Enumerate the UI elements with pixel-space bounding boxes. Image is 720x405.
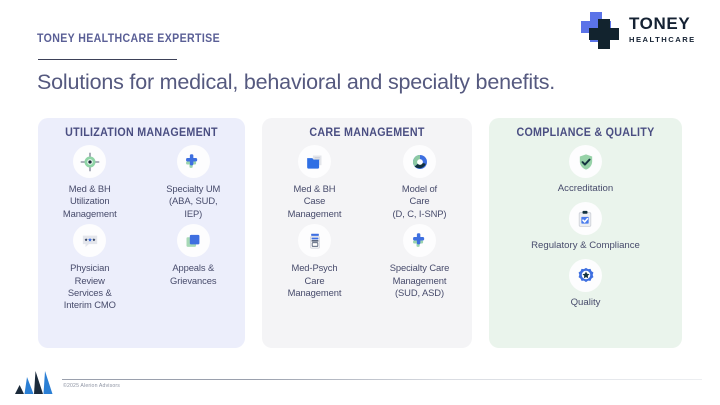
panel-items-utilization-management: Med & BH Utilization Management Specialt… xyxy=(38,145,245,312)
item-med-psych-care-management[interactable]: Med-Psych Care Management xyxy=(262,224,367,299)
item-caption: Quality xyxy=(571,297,601,309)
panel-title-care-management: CARE MANAGEMENT xyxy=(269,127,464,139)
panel-items-care-management: Med & BH Case Management Model of Care (… xyxy=(262,145,472,299)
item-regulatory-compliance[interactable]: Regulatory & Compliance xyxy=(531,202,640,252)
page-header: TONEY HEALTHCARE EXPERTISE Solutions for… xyxy=(0,0,720,110)
brand-wordmark: TONEY HEALTHCARE xyxy=(629,15,696,44)
brand-name: TONEY xyxy=(629,15,696,32)
page-title: Solutions for medical, behavioral and sp… xyxy=(37,70,555,95)
panel-title-utilization-management: UTILIZATION MANAGEMENT xyxy=(45,127,238,139)
pill-bottle-icon xyxy=(298,224,331,257)
panel-row: UTILIZATION MANAGEMENT Med & BH Utilizat… xyxy=(0,118,720,350)
double-plus-icon xyxy=(177,145,210,178)
panel-title-compliance-quality: COMPLIANCE & QUALITY xyxy=(496,127,675,139)
item-caption: Med & BH Utilization Management xyxy=(63,183,117,220)
item-caption: Specialty UM (ABA, SUD, IEP) xyxy=(166,183,220,220)
clipboard-check-icon xyxy=(569,202,602,235)
item-caption: Model of Care (D, C, I-SNP) xyxy=(393,183,447,220)
eyebrow-divider xyxy=(38,59,177,60)
item-specialty-um[interactable]: Specialty UM (ABA, SUD, IEP) xyxy=(142,145,246,220)
item-appeals-grievances[interactable]: Appeals & Grievances xyxy=(142,224,246,312)
panel-compliance-quality: COMPLIANCE & QUALITY Accreditation xyxy=(489,118,682,348)
toney-cross-logo-icon xyxy=(577,10,619,50)
shield-check-icon xyxy=(569,145,602,178)
double-plus-icon xyxy=(403,224,436,257)
item-med-bh-utilization-management[interactable]: Med & BH Utilization Management xyxy=(38,145,142,220)
donut-chart-icon xyxy=(403,145,436,178)
badge-star-icon xyxy=(569,259,602,292)
item-caption: Specialty Care Management (SUD, ASD) xyxy=(390,262,450,299)
brand-logo: TONEY HEALTHCARE xyxy=(577,9,703,51)
alerion-advisors-logo-icon xyxy=(15,369,55,395)
item-caption: Med-Psych Care Management xyxy=(288,262,342,299)
folder-icon xyxy=(298,145,331,178)
panel-items-compliance-quality: Accreditation Regulatory & Compliance xyxy=(489,145,682,309)
panel-care-management: CARE MANAGEMENT Med & BH Case Management xyxy=(262,118,472,348)
item-caption: Regulatory & Compliance xyxy=(531,240,640,252)
item-caption: Med & BH Case Management xyxy=(288,183,342,220)
item-quality[interactable]: Quality xyxy=(569,259,602,309)
review-bubble-stars-icon xyxy=(73,224,106,257)
item-med-bh-case-management[interactable]: Med & BH Case Management xyxy=(262,145,367,220)
eyebrow-label: TONEY HEALTHCARE EXPERTISE xyxy=(37,33,220,45)
brand-subtitle: HEALTHCARE xyxy=(629,36,696,44)
item-caption: Appeals & Grievances xyxy=(170,262,216,287)
footer-copyright: ©2025 Alerion Advisors xyxy=(63,383,120,389)
target-crosshair-icon xyxy=(73,145,106,178)
item-caption: Accreditation xyxy=(558,183,613,195)
item-model-of-care[interactable]: Model of Care (D, C, I-SNP) xyxy=(367,145,472,220)
item-specialty-care-management[interactable]: Specialty Care Management (SUD, ASD) xyxy=(367,224,472,299)
stacked-squares-icon xyxy=(177,224,210,257)
item-physician-review-services[interactable]: Physician Review Services & Interim CMO xyxy=(38,224,142,312)
item-accreditation[interactable]: Accreditation xyxy=(558,145,613,195)
item-caption: Physician Review Services & Interim CMO xyxy=(64,262,116,312)
panel-utilization-management: UTILIZATION MANAGEMENT Med & BH Utilizat… xyxy=(38,118,245,348)
footer-divider xyxy=(62,379,702,380)
